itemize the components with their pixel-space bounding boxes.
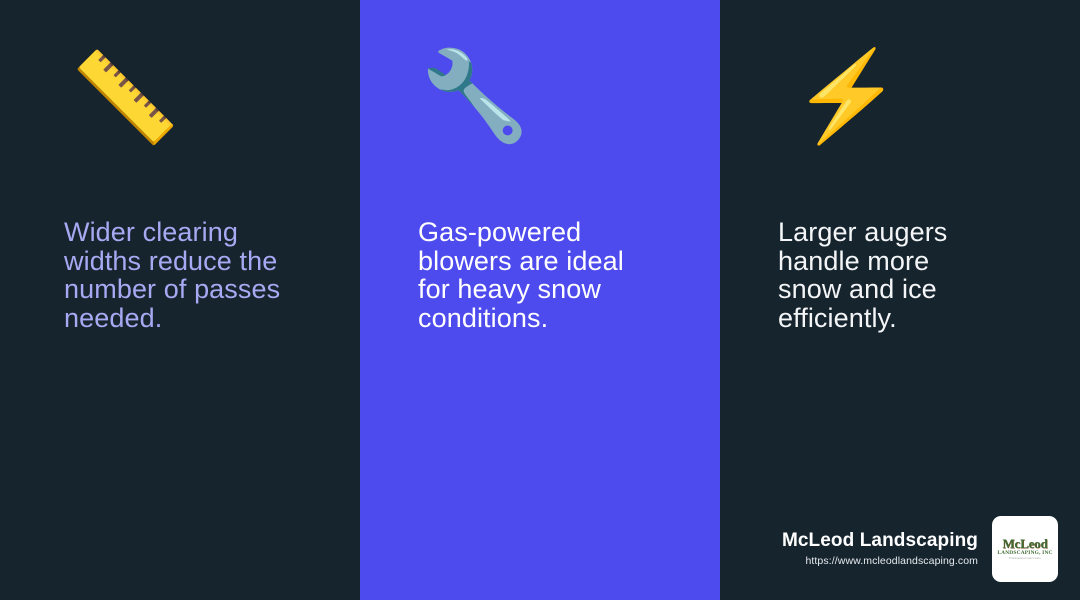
brand-name: McLeod Landscaping [782,531,978,550]
panel-content: 🔧 Gas-powered blowers are ideal for heav… [418,52,686,332]
logo-subtitle: LANDSCAPING, INC [997,551,1052,556]
panel-body-text: Wider clearing widths reduce the number … [64,218,326,332]
logo-tagline: Professional Lawn Care [1009,558,1041,561]
logo-wordmark: McLeod [1002,537,1047,550]
panel-content: ⚡ Larger augers handle more snow and ice… [778,52,1046,332]
panel-gas-powered: 🔧 Gas-powered blowers are ideal for heav… [360,0,720,600]
straight-ruler-icon: 📏 [70,54,332,180]
panel-clearing-width: 📏 Wider clearing widths reduce the numbe… [0,0,360,600]
footer-text-block: McLeod Landscaping https://www.mcleodlan… [782,531,978,567]
brand-url[interactable]: https://www.mcleodlandscaping.com [805,556,978,567]
panel-body-text: Gas-powered blowers are ideal for heavy … [418,218,686,332]
brand-logo-badge: McLeod LANDSCAPING, INC Professional Law… [992,516,1058,582]
wrench-icon: 🔧 [420,52,688,178]
high-voltage-icon: ⚡ [792,52,1060,178]
panel-body-text: Larger augers handle more snow and ice e… [778,218,1046,332]
infographic-canvas: 📏 Wider clearing widths reduce the numbe… [0,0,1080,600]
panel-larger-augers: ⚡ Larger augers handle more snow and ice… [720,0,1080,600]
panel-content: 📏 Wider clearing widths reduce the numbe… [64,52,326,332]
panel-row: 📏 Wider clearing widths reduce the numbe… [0,0,1080,600]
footer-branding: McLeod Landscaping https://www.mcleodlan… [782,516,1058,582]
